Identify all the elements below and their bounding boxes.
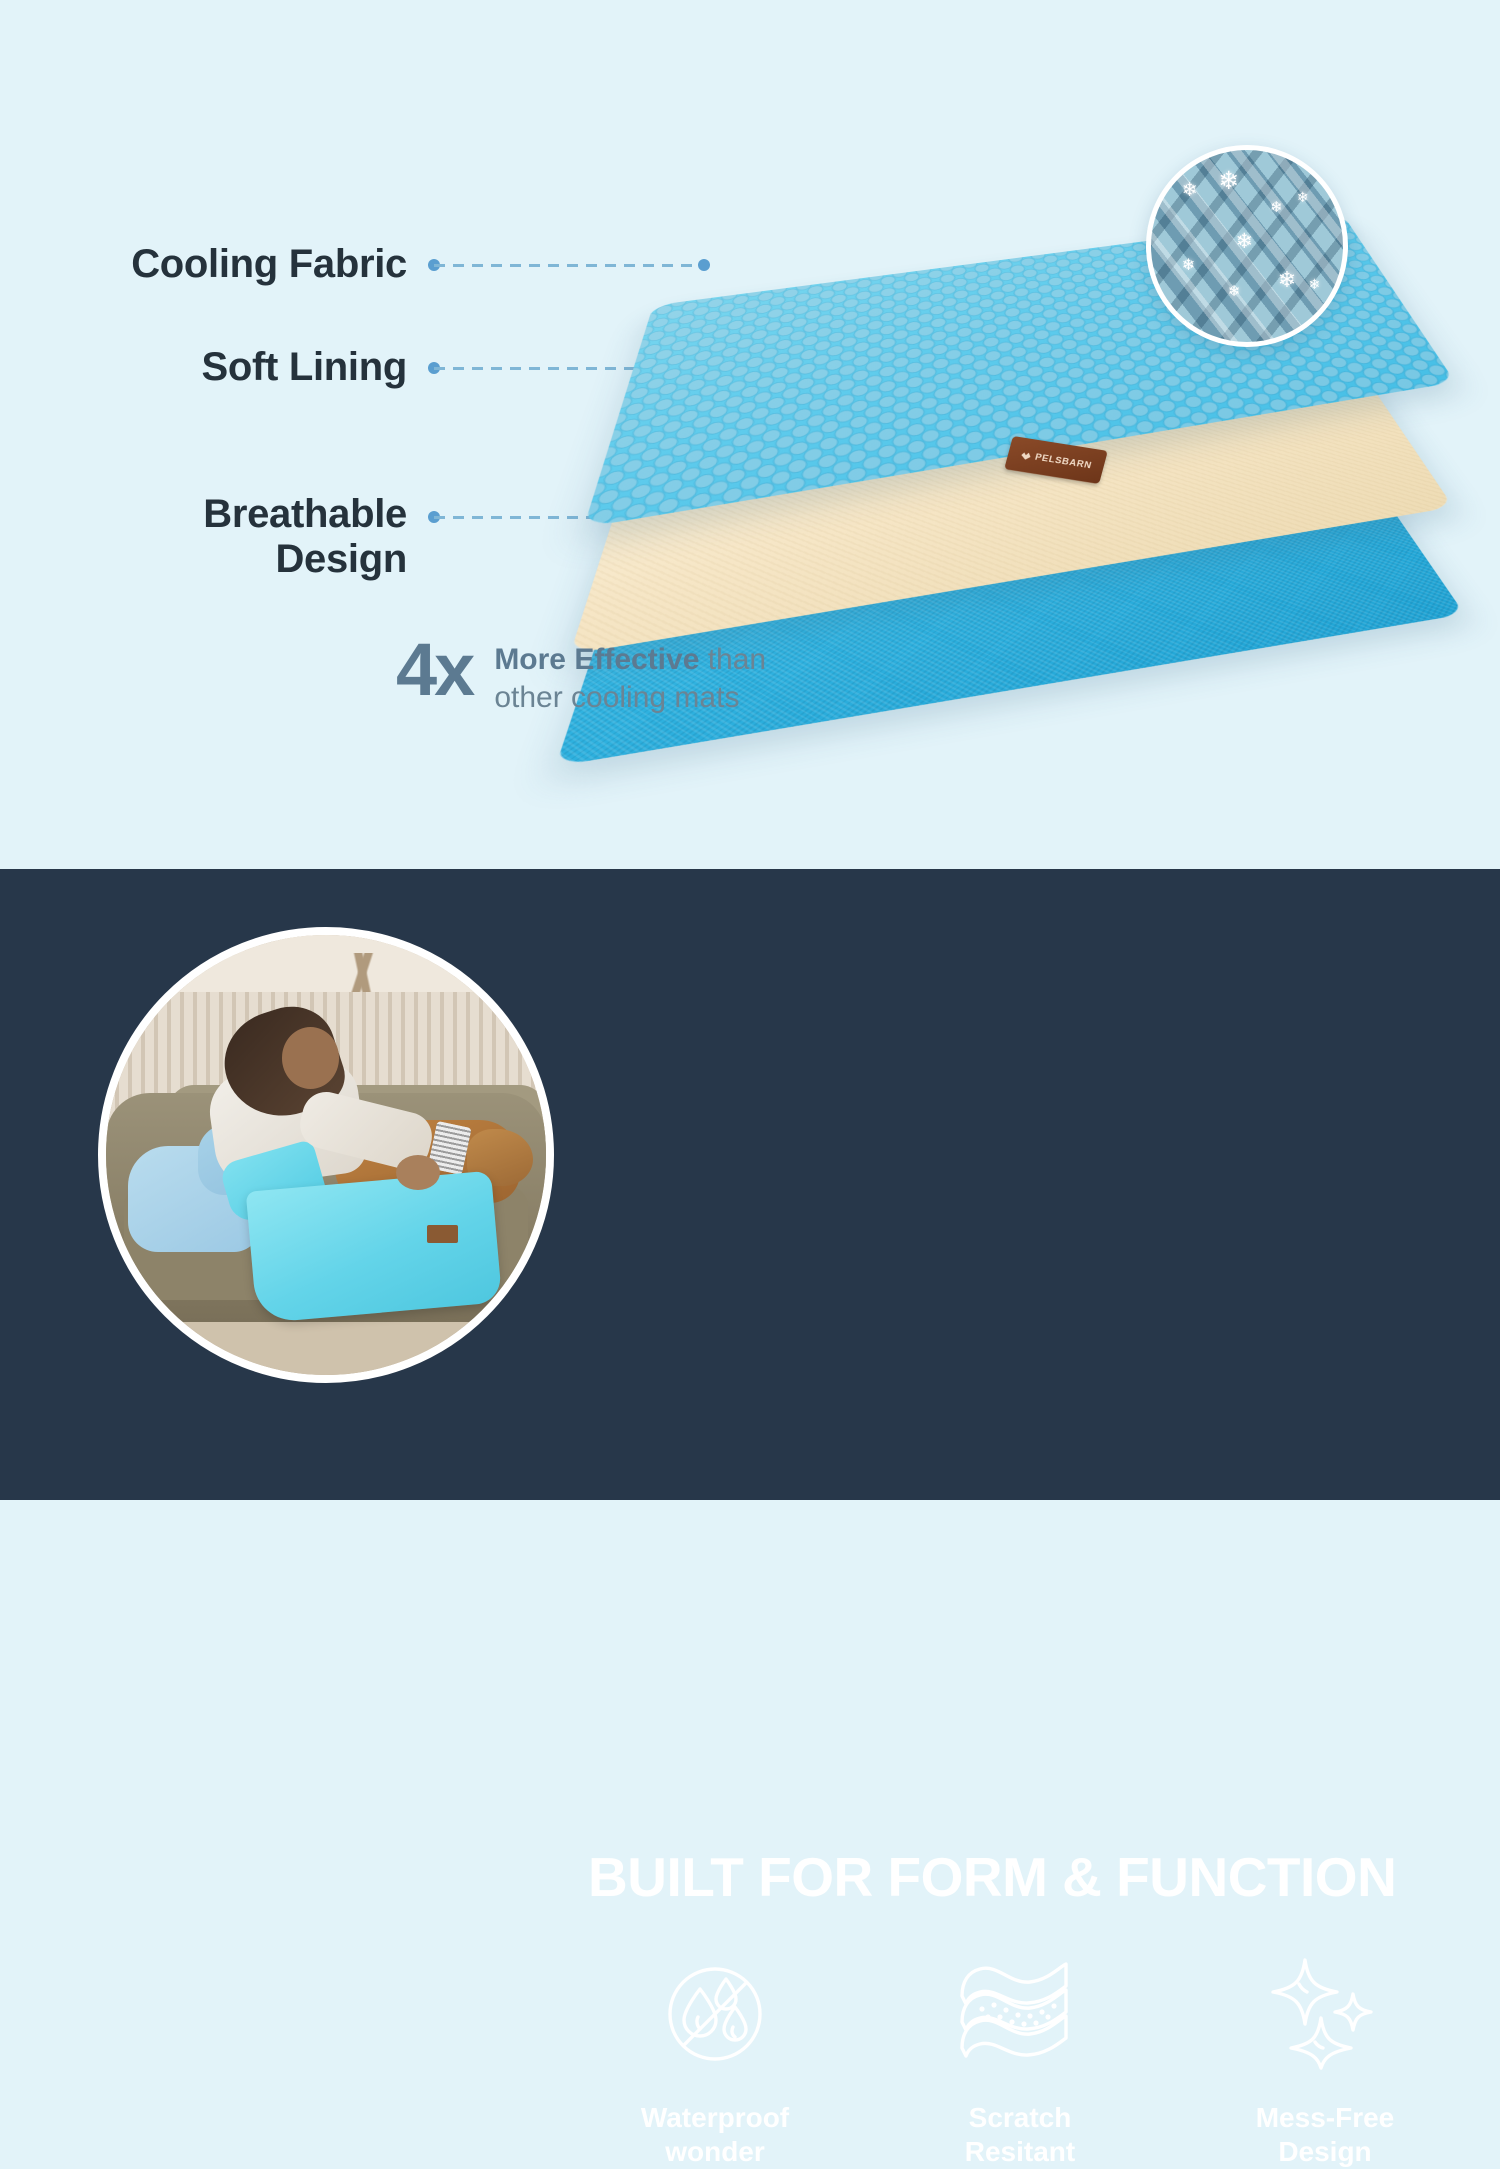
callout-text: More Effective than other cooling mats — [494, 635, 834, 718]
snowflake-icon: ❄ — [1297, 190, 1309, 204]
photo-mat-tag — [427, 1225, 458, 1243]
callout-multiplier: 4x — [396, 635, 472, 705]
fabric-weave-closeup: ❄ ❄ ❄ ❄ ❄ ❄ ❄ ❄ ❄ — [1146, 145, 1348, 347]
feature-item-waterproof: Waterproof wonder — [590, 1949, 840, 2169]
layer-label-cooling-fabric: Cooling Fabric — [131, 242, 407, 287]
layer-label-soft-lining: Soft Lining — [201, 345, 407, 390]
snowflake-icon: ❄ — [1182, 258, 1195, 274]
photo-cooling-mat — [246, 1171, 503, 1324]
snowflake-icon: ❄ — [1270, 200, 1283, 215]
waterproof-no-water-drops-icon — [656, 1949, 774, 2079]
snowflake-icon: ❄ — [1182, 181, 1198, 200]
page-title: BUILT FOR FORM & FUNCTION — [588, 1845, 1396, 1909]
lifestyle-photo — [98, 927, 554, 1383]
snowflake-icon: ❄ — [1218, 169, 1239, 194]
snowflake-icon: ❄ — [1278, 269, 1296, 291]
feature-label-waterproof: Waterproof wonder — [641, 2101, 789, 2169]
feature-list: Waterproof wonder — [590, 1949, 1450, 2169]
brand-tag-text: PELSBARN — [1034, 451, 1093, 471]
features-section: BUILT FOR FORM & FUNCTION Waterproof won… — [0, 869, 1500, 1500]
snowflake-icon: ❄ — [1228, 284, 1241, 299]
product-infographic: Cooling Fabric Soft Lining Breathable De… — [0, 0, 1500, 1500]
feature-item-mess-free: Mess-Free Design — [1200, 1949, 1450, 2169]
snowflake-icon: ❄ — [1235, 231, 1253, 252]
photo-wall-art — [264, 953, 466, 993]
mess-free-sparkles-icon — [1265, 1949, 1385, 2079]
effectiveness-callout: 4x More Effective than other cooling mat… — [396, 635, 834, 718]
feature-label-mess-free: Mess-Free Design — [1256, 2101, 1395, 2169]
scratch-resistant-fabric-waves-icon — [954, 1949, 1086, 2079]
photo-woman-head — [282, 1027, 339, 1089]
paw-logo-icon — [1019, 450, 1032, 461]
callout-bold-text: More Effective — [494, 643, 699, 676]
layers-section: Cooling Fabric Soft Lining Breathable De… — [0, 0, 1500, 869]
feature-item-scratch-resistant: Scratch Resitant — [895, 1949, 1145, 2169]
layer-label-breathable-design: Breathable Design — [203, 492, 407, 582]
snowflake-icon: ❄ — [1308, 277, 1320, 291]
feature-label-scratch-resistant: Scratch Resitant — [965, 2101, 1075, 2169]
